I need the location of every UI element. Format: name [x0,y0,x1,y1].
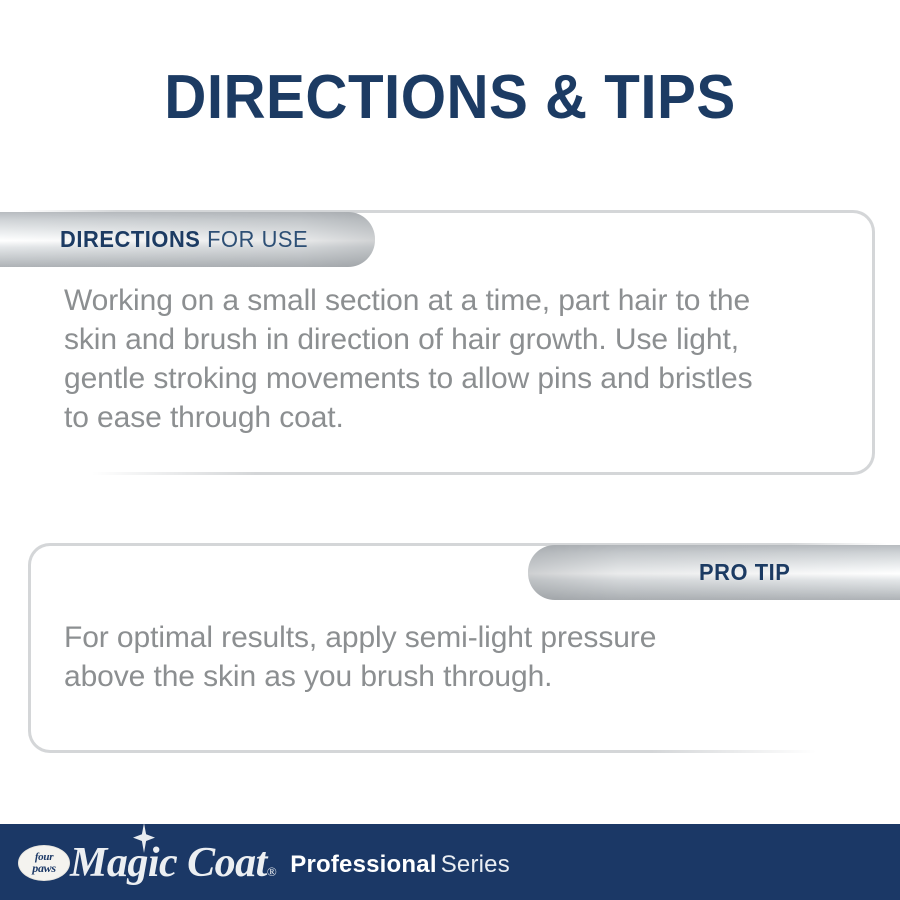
directions-body-text: Working on a small section at a time, pa… [64,281,854,437]
protip-banner-strong-label: PRO TIP [699,559,790,585]
protip-banner: PRO TIP [528,545,900,600]
series-bold-label: Professional [290,851,436,878]
product-instructions-page: DIRECTIONS & TIPS DIRECTIONS FOR USE Wor… [0,0,900,900]
directions-banner-strong-label: DIRECTIONS [60,226,200,252]
directions-banner-text: DIRECTIONS FOR USE [60,226,308,253]
four-paws-logo-badge: four paws [18,845,70,881]
page-title: DIRECTIONS & TIPS [27,62,873,133]
four-paws-badge-line2: paws [32,862,55,874]
magic-coat-registered-mark: ® [267,864,276,879]
series-light-label: Series [441,851,510,878]
brand-lockup: four paws Magic Coat® ProfessionalSeries [18,836,510,890]
directions-banner-light-label: FOR USE [200,226,308,252]
protip-body-text: For optimal results, apply semi-light pr… [64,618,824,696]
protip-banner-text: PRO TIP [699,559,790,586]
directions-banner: DIRECTIONS FOR USE [0,212,375,267]
magic-coat-wordmark-text: Magic Coat [70,840,267,886]
professional-series-lockup: ProfessionalSeries [290,847,510,879]
footer-brand-bar: four paws Magic Coat® ProfessionalSeries [0,822,900,900]
magic-coat-wordmark: Magic Coat® [70,839,276,887]
